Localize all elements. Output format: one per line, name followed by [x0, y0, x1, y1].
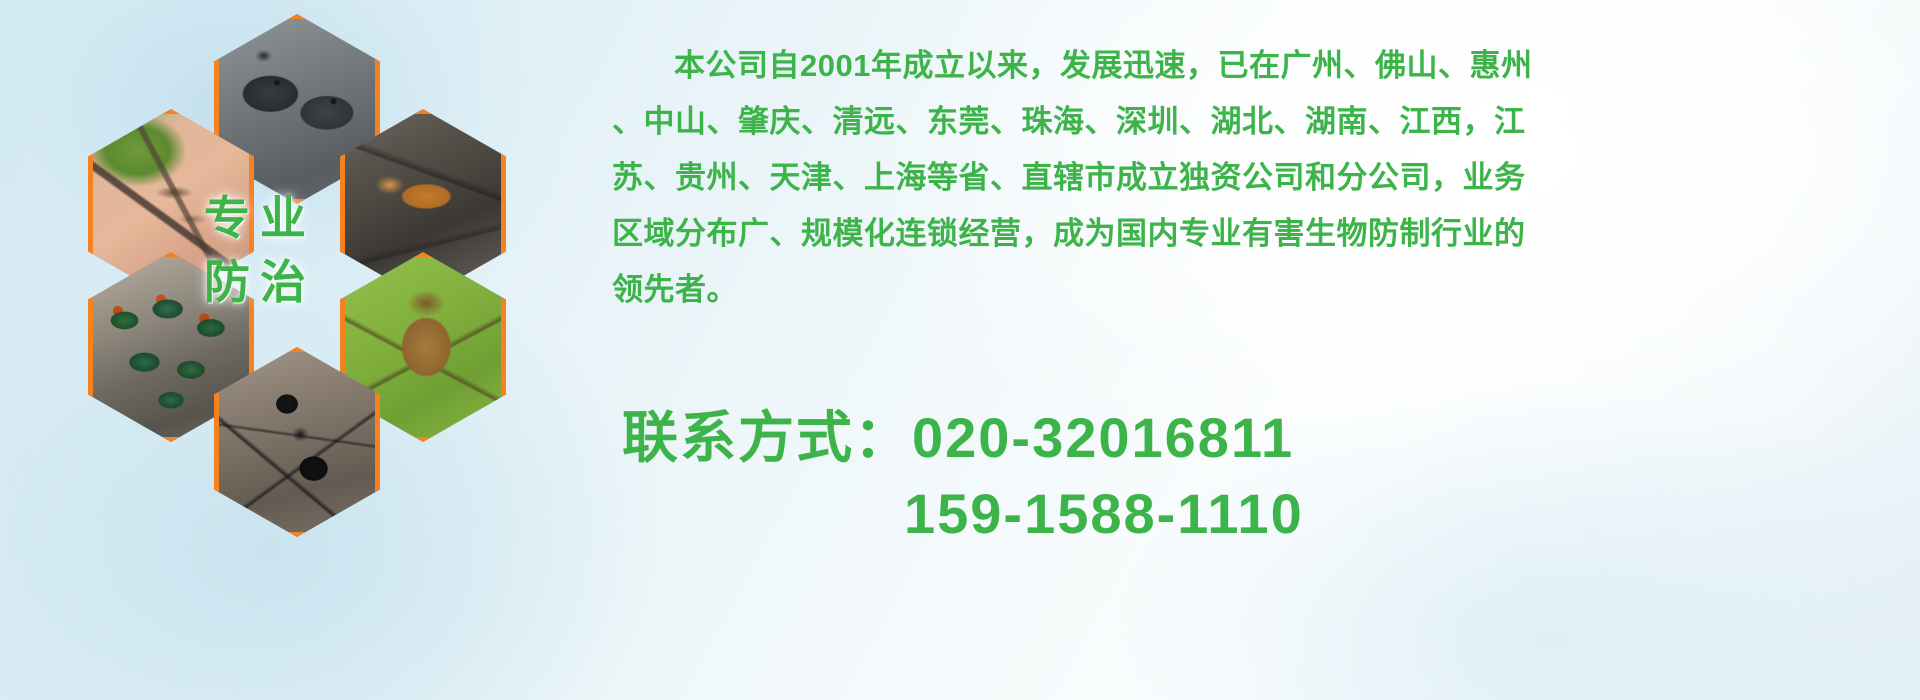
- contact-phone-landline[interactable]: 联系方式：020-32016811: [622, 400, 1912, 476]
- description-line-2: 、中山、肇庆、清远、东莞、珠海、深圳、湖北、湖南、江西，江: [612, 94, 1912, 150]
- contact-info: 联系方式：020-32016811 159-1588-1110: [622, 400, 1912, 552]
- hexagon-photo-collage: [88, 14, 588, 574]
- promo-banner: 专业 防治 本公司自2001年成立以来，发展迅速，已在广州、佛山、惠州 、中山、…: [0, 0, 1920, 700]
- contact-phone-mobile[interactable]: 159-1588-1110: [622, 476, 1912, 552]
- description-line-1: 本公司自2001年成立以来，发展迅速，已在广州、佛山、惠州: [612, 38, 1912, 94]
- company-description: 本公司自2001年成立以来，发展迅速，已在广州、佛山、惠州 、中山、肇庆、清远、…: [612, 38, 1912, 318]
- description-line-3: 苏、贵州、天津、上海等省、直辖市成立独资公司和分公司，业务: [612, 150, 1912, 206]
- description-line-4: 区域分布广、规模化连锁经营，成为国内专业有害生物防制行业的: [612, 206, 1912, 262]
- description-line-5: 领先者。: [612, 262, 1912, 318]
